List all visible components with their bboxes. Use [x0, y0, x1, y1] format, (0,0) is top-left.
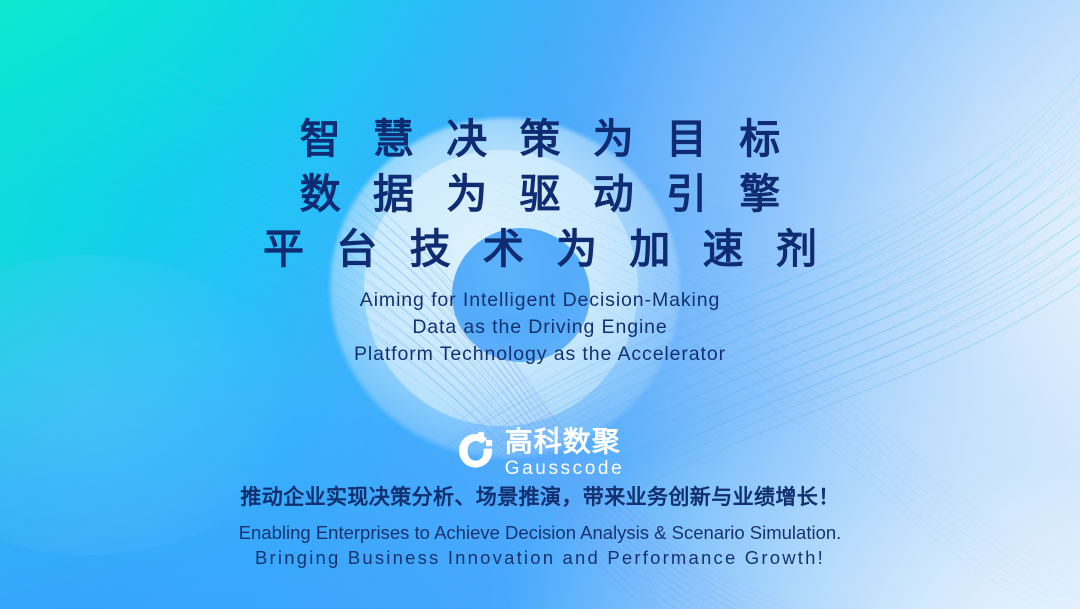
footer-tagline-en-line-1: Enabling Enterprises to Achieve Decision… — [0, 520, 1080, 545]
brand-logo: 高科数聚 Gausscode — [0, 428, 1080, 478]
footer-tagline-en-line-2: Bringing Business Innovation and Perform… — [0, 545, 1080, 570]
logo-name-en: Gausscode — [505, 459, 625, 478]
footer-copy: 推动企业实现决策分析、场景推演，带来业务创新与业绩增长！ Enabling En… — [0, 483, 1080, 570]
gausscode-logo-mark-icon — [456, 431, 496, 471]
subheadline-line-1: Aiming for Intelligent Decision-Making — [354, 287, 726, 314]
logo-name-cn: 高科数聚 — [505, 428, 621, 456]
footer-tagline-en: Enabling Enterprises to Achieve Decision… — [0, 520, 1080, 570]
subheadline-group: Aiming for Intelligent Decision-Making D… — [354, 287, 726, 368]
headline-group: 智 慧 决 策 为 目 标 数 据 为 驱 动 引 擎 平 台 技 术 为 加 … — [254, 112, 826, 277]
headline-line-1: 智 慧 决 策 为 目 标 — [254, 112, 826, 167]
headline-line-3: 平 台 技 术 为 加 速 剂 — [254, 222, 826, 277]
promo-banner: 智 慧 决 策 为 目 标 数 据 为 驱 动 引 擎 平 台 技 术 为 加 … — [0, 0, 1080, 609]
headline-line-2: 数 据 为 驱 动 引 擎 — [254, 167, 826, 222]
subheadline-line-3: Platform Technology as the Accelerator — [354, 341, 726, 368]
logo-wordmark: 高科数聚 Gausscode — [505, 428, 625, 478]
subheadline-line-2: Data as the Driving Engine — [354, 314, 726, 341]
footer-tagline-cn: 推动企业实现决策分析、场景推演，带来业务创新与业绩增长！ — [0, 483, 1080, 511]
